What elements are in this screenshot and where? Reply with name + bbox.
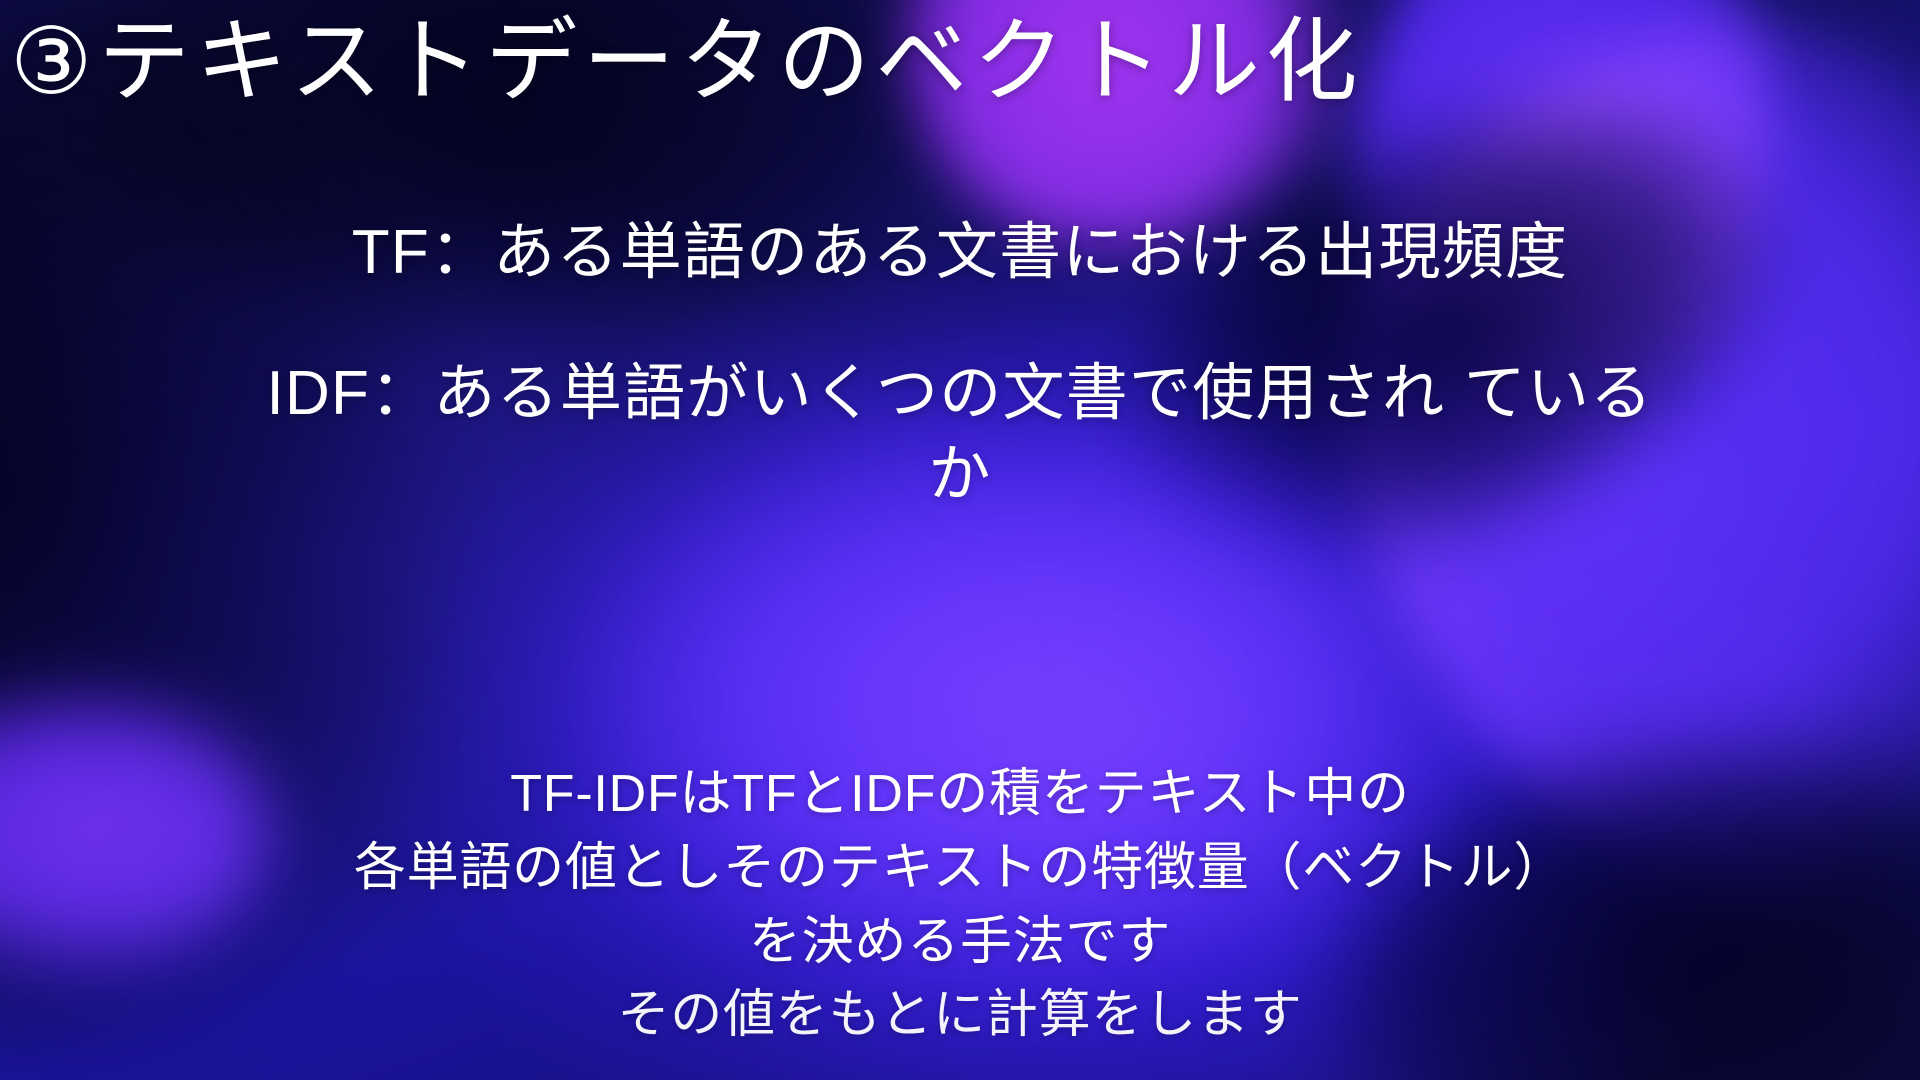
definition-tf: TF：ある単語のある文書における出現頻度 <box>0 214 1920 292</box>
summary-line-3: を決める手法です <box>0 906 1920 980</box>
presentation-slide: ③テキストデータのベクトル化 TF：ある単語のある文書における出現頻度 IDF：… <box>0 0 1920 1080</box>
definition-idf: IDF：ある単語がいくつの文書で使用され ているか <box>0 354 1920 515</box>
summary-paragraph: TF-IDFはTFとIDFの積をテキスト中の 各単語の値としそのテキストの特徴量… <box>0 758 1920 1053</box>
slide-title: ③テキストデータのベクトル化 <box>10 8 1363 117</box>
summary-line-1: TF-IDFはTFとIDFの積をテキスト中の <box>0 758 1920 832</box>
definition-idf-line1: IDF：ある単語がいくつの文書で使用され <box>267 359 1446 428</box>
slide-content: ③テキストデータのベクトル化 TF：ある単語のある文書における出現頻度 IDF：… <box>0 0 1920 1080</box>
summary-line-2: 各単語の値としそのテキストの特徴量（ベクトル） <box>0 832 1920 906</box>
summary-line-4: その値をもとに計算をします <box>0 979 1920 1053</box>
definition-list: TF：ある単語のある文書における出現頻度 IDF：ある単語がいくつの文書で使用さ… <box>0 214 1920 515</box>
